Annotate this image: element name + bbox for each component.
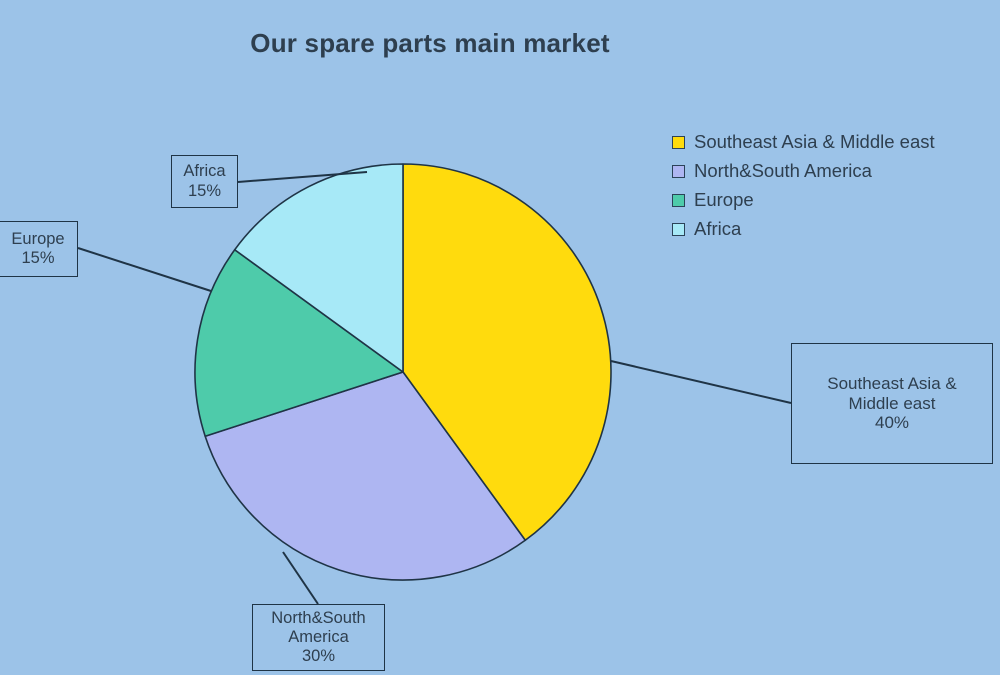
legend-item-southeast-asia[interactable]: Southeast Asia & Middle east <box>672 128 982 157</box>
legend-swatch-icon <box>672 194 685 207</box>
callout-southeast-asia[interactable]: Southeast Asia & Middle east 40% <box>791 343 993 464</box>
callout-line-1: Africa <box>183 162 225 181</box>
legend-swatch-icon <box>672 136 685 149</box>
callout-value: 30% <box>302 647 335 666</box>
callout-line-1: Europe <box>11 230 64 249</box>
legend-item-label: North&South America <box>694 162 872 181</box>
callout-line-1: North&South <box>271 609 365 628</box>
chart-legend: Southeast Asia & Middle east North&South… <box>672 128 982 244</box>
pie-slice-group <box>195 164 611 580</box>
callout-line-2: Middle east <box>849 394 936 414</box>
callout-value: 40% <box>875 413 909 433</box>
callout-value: 15% <box>188 182 221 201</box>
leader-line-europe <box>78 248 211 291</box>
callout-value: 15% <box>21 249 54 268</box>
callout-africa[interactable]: Africa 15% <box>171 155 238 208</box>
legend-item-label: Africa <box>694 220 741 239</box>
legend-item-label: Europe <box>694 191 754 210</box>
legend-item-europe[interactable]: Europe <box>672 186 982 215</box>
slide-canvas: Our spare parts main market Southeast As… <box>0 0 1000 675</box>
legend-item-africa[interactable]: Africa <box>672 215 982 244</box>
legend-item-label: Southeast Asia & Middle east <box>694 133 935 152</box>
legend-item-north-south-america[interactable]: North&South America <box>672 157 982 186</box>
legend-swatch-icon <box>672 165 685 178</box>
callout-europe[interactable]: Europe 15% <box>0 221 78 277</box>
pie-chart <box>0 0 1000 675</box>
callout-line-2: America <box>288 628 349 647</box>
callout-line-1: Southeast Asia & <box>827 374 956 394</box>
leader-line-southeast-asia <box>611 361 791 403</box>
callout-north-south-america[interactable]: North&South America 30% <box>252 604 385 671</box>
legend-swatch-icon <box>672 223 685 236</box>
